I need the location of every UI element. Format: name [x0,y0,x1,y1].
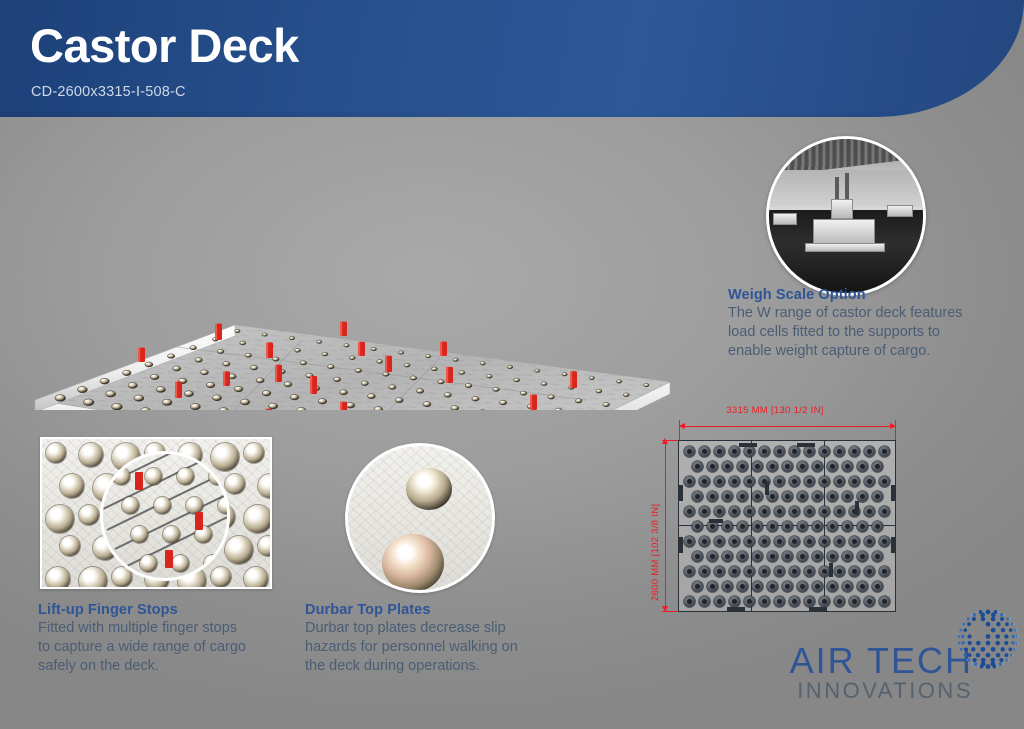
plan-ball-unit [864,566,875,577]
finger-stops-photo [40,437,272,589]
plan-ball-unit [744,596,755,607]
lift-up-finger-stop [135,472,143,490]
page-title: Castor Deck [30,22,299,69]
plan-ball-unit [729,476,740,487]
ball-transfer-unit [131,526,148,543]
plan-ball-unit [744,446,755,457]
plan-ball-unit [789,596,800,607]
plan-ball-unit [744,566,755,577]
plan-ball-unit [789,566,800,577]
plan-ball-unit [834,476,845,487]
plan-finger-stop-mark [679,537,683,553]
durbar-plates-heading: Durbar Top Plates [305,602,530,618]
ball-transfer-unit [46,505,74,533]
dimension-drawing: 3315 MM [130 1/2 IN] 2600 MM [102 3/8 IN… [640,405,910,620]
plan-ball-unit [752,491,763,502]
height-dim-line [665,441,666,611]
plan-ball-unit [849,596,860,607]
finger-stops-heading: Lift-up Finger Stops [38,602,253,618]
ball-transfer-unit [145,468,162,485]
product-render-castor-deck [10,150,710,410]
finger-stops-body: Fitted with multiple finger stops to cap… [38,619,253,676]
plan-ball-unit [767,521,778,532]
plan-ball-unit [857,551,868,562]
plan-ball-unit [849,566,860,577]
plan-finger-stop-mark [829,563,833,577]
plan-ball-unit [759,536,770,547]
plan-ball-unit [714,596,725,607]
plan-ball-unit [797,581,808,592]
weigh-scale-caption: Weigh Scale Option The W range of castor… [728,287,963,361]
plan-ball-unit [879,446,890,457]
plan-ball-unit [812,551,823,562]
plan-ball-unit [684,506,695,517]
plan-finger-stop-mark [739,443,757,447]
plan-ball-unit [864,596,875,607]
plan-ball-unit [804,596,815,607]
plan-ball-unit [804,536,815,547]
plan-ball-unit [737,491,748,502]
plan-ball-unit [707,491,718,502]
plan-ball-unit [864,446,875,457]
plan-ball-unit [699,596,710,607]
plan-ball-unit [699,446,710,457]
plan-ball-unit [684,566,695,577]
ball-unit-upper [406,468,452,510]
plan-ball-unit [872,551,883,562]
plan-ball-unit [752,581,763,592]
logo-secondary-text: INNOVATIONS [613,678,973,704]
ext-line-left [679,420,680,442]
plan-ball-unit [782,491,793,502]
plan-ball-unit [879,536,890,547]
plan-ball-unit [774,446,785,457]
plan-ball-unit [804,446,815,457]
plan-ball-unit [759,446,770,457]
durbar-plates-body: Durbar top plates decrease slip hazards … [305,619,530,676]
plan-ball-unit [827,581,838,592]
plan-ball-unit [729,446,740,457]
plan-ball-unit [789,446,800,457]
ball-transfer-unit [79,443,103,467]
load-cell-base [805,243,885,252]
plan-finger-stop-mark [765,481,769,495]
plan-ball-unit [744,536,755,547]
plan-ball-unit [812,491,823,502]
plan-ball-unit [789,536,800,547]
ball-transfer-unit [163,526,180,543]
plan-ball-unit [722,551,733,562]
plan-ball-unit [842,581,853,592]
plan-ball-unit [834,506,845,517]
plan-ball-unit [767,581,778,592]
plan-ball-unit [879,506,890,517]
plan-ball-unit [834,596,845,607]
plan-finger-stop-mark [727,607,745,611]
load-cell-column [831,199,853,219]
ball-transfer-unit [60,536,80,556]
plan-ball-unit [714,506,725,517]
plan-ball-unit [842,521,853,532]
support-foot-left [773,213,797,225]
plan-ball-unit [692,491,703,502]
plan-ball-unit [774,536,785,547]
plan-ball-unit [774,476,785,487]
plan-ball-unit [737,461,748,472]
plan-ball-unit [797,491,808,502]
ball-transfer-unit [225,474,245,494]
plan-ball-unit [707,551,718,562]
globe-sphere-icon [951,602,1024,676]
plan-ball-unit [759,566,770,577]
plan-ball-unit [752,461,763,472]
plan-ball-unit [797,551,808,562]
plan-ball-unit [834,566,845,577]
plan-ball-unit [872,521,883,532]
plan-ball-unit [722,491,733,502]
plan-ball-unit [819,476,830,487]
ball-transfer-unit [122,497,139,514]
plan-ball-unit [699,506,710,517]
magnifier-overlay [100,451,230,581]
ball-transfer-unit [79,505,99,525]
ball-transfer-unit [177,468,194,485]
plan-finger-stop-mark [809,607,827,611]
plan-ball-unit [857,461,868,472]
plan-ball-unit [827,521,838,532]
plan-ball-unit [737,581,748,592]
plan-ball-unit [842,461,853,472]
plan-finger-stop-mark [891,537,896,553]
plan-ball-unit [714,446,725,457]
lift-up-finger-stop [165,550,173,568]
plan-ball-unit [857,581,868,592]
weigh-scale-body: The W range of castor deck features load… [728,304,963,361]
plan-ball-unit [759,596,770,607]
plan-ball-unit [714,476,725,487]
plan-ball-unit [722,461,733,472]
ball-transfer-unit [113,468,130,485]
plan-ball-unit [692,581,703,592]
ball-transfer-unit [244,505,272,533]
plan-ball-unit [864,536,875,547]
durbar-plates-caption: Durbar Top Plates Durbar top plates decr… [305,602,530,676]
stud-a [835,177,839,199]
company-logo: AIR TECH INNOVATIONS [613,636,1013,708]
plan-ball-unit [879,596,890,607]
ball-transfer-unit [209,468,226,485]
plan-ball-unit [849,536,860,547]
plan-ball-unit [827,551,838,562]
plan-ball-unit [827,491,838,502]
plan-finger-stop-mark [855,501,859,515]
lift-up-finger-stop [195,512,203,530]
plan-ball-unit [797,521,808,532]
plan-ball-unit [797,461,808,472]
stud-b [845,173,849,199]
plan-ball-unit [692,551,703,562]
plan-ball-unit [684,596,695,607]
plan-ball-unit [879,476,890,487]
plan-ball-unit [872,491,883,502]
plan-ball-unit [729,506,740,517]
plan-ball-unit [767,551,778,562]
plan-ball-unit [759,506,770,517]
ball-transfer-unit [244,567,268,589]
durbar-plates-photo [345,443,495,593]
plan-ball-unit [699,566,710,577]
plan-ball-unit [812,521,823,532]
plan-ball-unit [707,461,718,472]
plan-ball-unit [729,596,740,607]
plan-ball-unit [729,566,740,577]
ball-transfer-unit [46,567,70,589]
plan-finger-stop-mark [709,519,723,523]
plan-ball-unit [774,596,785,607]
plan-finger-stop-mark [797,443,815,447]
ball-transfer-unit [204,555,221,572]
plan-ball-unit [707,581,718,592]
deck-plan-view [678,440,896,612]
plan-ball-unit [804,476,815,487]
plan-ball-unit [804,506,815,517]
plan-ball-unit [699,476,710,487]
plan-ball-unit [782,521,793,532]
plan-ball-unit [774,506,785,517]
plan-ball-unit [737,521,748,532]
height-dimension-label: 2600 MM [102 3/8 IN] [650,504,661,601]
plan-ball-unit [827,461,838,472]
plan-ball-unit [849,446,860,457]
model-code: CD-2600x3315-I-508-C [31,84,186,100]
plan-ball-unit [692,461,703,472]
ext-line-right [895,420,896,442]
plan-finger-stop-mark [891,485,896,501]
plan-ball-unit [789,506,800,517]
plan-ball-unit [752,521,763,532]
support-foot-right [887,205,913,217]
header-banner: Castor Deck CD-2600x3315-I-508-C [0,0,1024,117]
ball-unit-lower [382,534,444,592]
plan-ball-unit [744,476,755,487]
plan-ball-unit [864,506,875,517]
plan-ball-unit [722,521,733,532]
plan-ball-unit [804,566,815,577]
plan-ball-unit [872,581,883,592]
plan-ball-unit [819,536,830,547]
ball-transfer-unit [225,536,253,564]
plan-ball-unit [849,476,860,487]
plan-ball-unit [752,551,763,562]
width-dimension-label: 3315 MM [130 1/2 IN] [640,405,910,416]
plan-ball-unit [812,461,823,472]
ball-transfer-unit [258,536,272,556]
plan-finger-stop-mark [679,485,683,501]
plan-ball-unit [774,566,785,577]
ball-transfer-unit [140,555,157,572]
plan-ball-unit [872,461,883,472]
panel-divider-vertical-2 [824,441,825,611]
plan-ball-unit [842,491,853,502]
plan-ball-unit [857,521,868,532]
plan-ball-unit [714,566,725,577]
width-dim-line [680,426,896,427]
plan-ball-unit [782,551,793,562]
plan-ball-unit [714,536,725,547]
load-cell-body [813,219,875,245]
plan-ball-unit [737,551,748,562]
ball-transfer-unit [46,443,66,463]
ball-transfer-unit [154,497,171,514]
plan-ball-unit [699,536,710,547]
datasheet-page: Castor Deck CD-2600x3315-I-508-C [0,0,1024,729]
plan-ball-unit [684,446,695,457]
plan-ball-unit [819,446,830,457]
plan-ball-unit [812,581,823,592]
plan-ball-unit [842,551,853,562]
plan-ball-unit [782,581,793,592]
plan-ball-unit [782,461,793,472]
plan-ball-unit [789,476,800,487]
ball-transfer-unit [244,443,264,463]
ball-transfer-unit [172,555,189,572]
plan-ball-unit [819,506,830,517]
plan-ball-unit [684,536,695,547]
plan-ball-unit [684,476,695,487]
plan-ball-unit [834,536,845,547]
ball-transfer-unit [60,474,84,498]
height-arrow-top [662,438,668,444]
plan-ball-unit [744,506,755,517]
plan-ball-unit [729,536,740,547]
plan-ball-unit [767,461,778,472]
plan-ball-unit [819,596,830,607]
plan-ball-unit [692,521,703,532]
plan-ball-unit [864,476,875,487]
plan-ball-unit [834,446,845,457]
logo-primary-text: AIR TECH [613,640,973,682]
plan-ball-unit [879,566,890,577]
weigh-scale-heading: Weigh Scale Option [728,287,963,303]
finger-stops-caption: Lift-up Finger Stops Fitted with multipl… [38,602,253,676]
weigh-scale-photo [766,136,926,296]
plan-ball-unit [722,581,733,592]
